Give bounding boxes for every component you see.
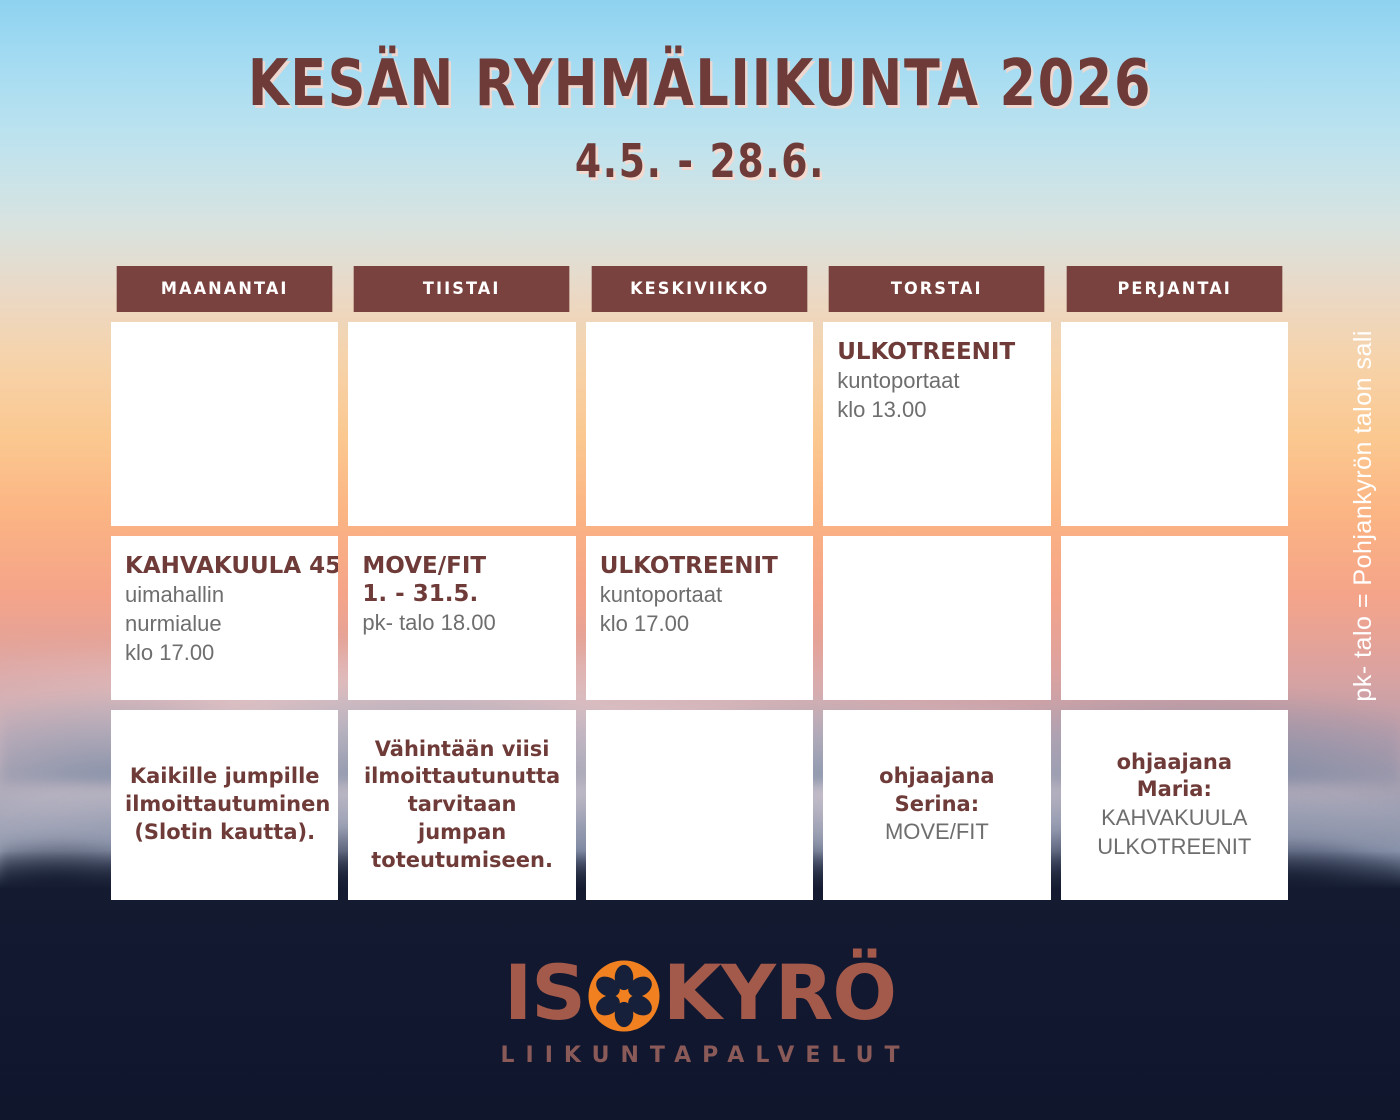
- cell-row2-monday: KAHVAKUULA 45' uimahallin nurmialue klo …: [111, 536, 338, 700]
- cell-row1-monday: [111, 322, 338, 526]
- poster-title: KESÄN RYHMÄLIIKUNTA 2026: [126, 52, 1274, 116]
- note-line: Kaikille jumpille: [125, 763, 324, 791]
- day-header-thursday: TORSTAI: [829, 266, 1045, 312]
- class-title: ULKOTREENIT: [837, 338, 1036, 366]
- instructor-class: KAHVAKUULA: [1075, 804, 1274, 833]
- isokyro-logo: IS KYRÖ LIIKUNTAPALVELUT: [0, 955, 1400, 1068]
- cell-row1-thursday: ULKOTREENIT kuntoportaat klo 13.00: [823, 322, 1050, 526]
- instructor-name: Serina:: [837, 791, 1036, 819]
- schedule-table: MAANANTAI TIISTAI KESKIVIIKKO TORSTAI PE…: [111, 266, 1288, 900]
- logo-text-part1: IS: [504, 955, 585, 1031]
- note-line: toteutumiseen.: [362, 847, 561, 875]
- day-header-monday: MAANANTAI: [117, 266, 333, 312]
- cell-row3-tuesday: Vähintään viisi ilmoittautunutta tarvita…: [348, 710, 575, 900]
- note-line: (Slotin kautta).: [125, 819, 324, 847]
- venue-legend-note: pk- talo = Pohjankyrön talon sali: [1349, 330, 1378, 702]
- class-location: kuntoportaat: [837, 366, 1036, 395]
- class-location: kuntoportaat: [600, 580, 799, 609]
- cell-row2-tuesday: MOVE/FIT 1. - 31.5. pk- talo 18.00: [348, 536, 575, 700]
- instructor-class: ULKOTREENIT: [1075, 833, 1274, 862]
- note-line: ilmoittautunutta: [362, 763, 561, 791]
- day-header-friday: PERJANTAI: [1066, 266, 1282, 312]
- day-header-tuesday: TIISTAI: [354, 266, 570, 312]
- cell-row2-thursday: [823, 536, 1050, 700]
- instructor-label: ohjaajana: [837, 763, 1036, 791]
- instructor-label: ohjaajana: [1075, 749, 1274, 777]
- class-title: KAHVAKUULA 45': [125, 552, 324, 580]
- class-time: klo 17.00: [125, 638, 324, 667]
- cell-row1-friday: [1061, 322, 1288, 526]
- class-title: ULKOTREENIT: [600, 552, 799, 580]
- class-title: MOVE/FIT: [362, 552, 561, 580]
- class-location-line2: nurmialue: [125, 609, 324, 638]
- class-time: klo 13.00: [837, 395, 1036, 424]
- class-date-range: 1. - 31.5.: [362, 580, 561, 608]
- cell-row3-wednesday: [586, 710, 813, 900]
- day-header-wednesday: KESKIVIIKKO: [591, 266, 807, 312]
- class-location-time: pk- talo 18.00: [362, 608, 561, 637]
- cell-row3-monday: Kaikille jumpille ilmoittautuminen (Slot…: [111, 710, 338, 900]
- logo-text-part2: KYRÖ: [663, 955, 896, 1031]
- cell-row3-friday: ohjaajana Maria: KAHVAKUULA ULKOTREENIT: [1061, 710, 1288, 900]
- instructor-name: Maria:: [1075, 776, 1274, 804]
- cell-row2-friday: [1061, 536, 1288, 700]
- note-line: tarvitaan jumpan: [362, 791, 561, 846]
- cell-row1-wednesday: [586, 322, 813, 526]
- poster-date-range: 4.5. - 28.6.: [126, 138, 1274, 184]
- flower-icon: [587, 959, 661, 1033]
- cell-row1-tuesday: [348, 322, 575, 526]
- note-line: Vähintään viisi: [362, 736, 561, 764]
- poster-canvas: KESÄN RYHMÄLIIKUNTA 2026 4.5. - 28.6. MA…: [0, 0, 1400, 1120]
- instructor-class: MOVE/FIT: [837, 818, 1036, 847]
- logo-tagline: LIIKUNTAPALVELUT: [0, 1043, 1400, 1068]
- poster-header: KESÄN RYHMÄLIIKUNTA 2026 4.5. - 28.6.: [0, 52, 1400, 184]
- cell-row2-wednesday: ULKOTREENIT kuntoportaat klo 17.00: [586, 536, 813, 700]
- logo-wordmark: IS KYRÖ: [0, 955, 1400, 1031]
- class-location-line1: uimahallin: [125, 580, 324, 609]
- cell-row3-thursday: ohjaajana Serina: MOVE/FIT: [823, 710, 1050, 900]
- note-line: ilmoittautuminen: [125, 791, 324, 819]
- class-time: klo 17.00: [600, 609, 799, 638]
